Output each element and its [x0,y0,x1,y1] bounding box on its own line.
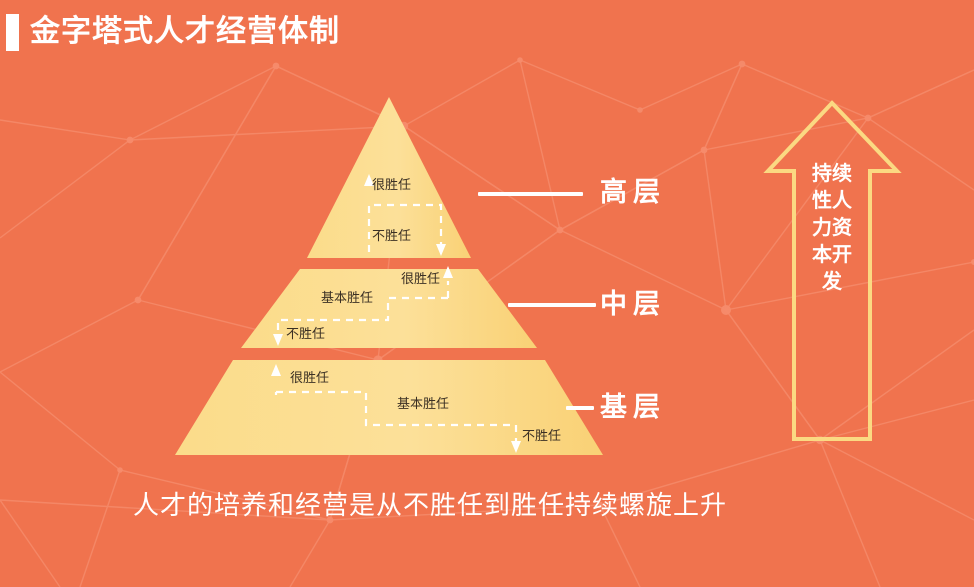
header-bar: 金字塔式人才经营体制 [0,0,974,66]
tier-connector-line-top [478,192,583,196]
competence-label-middle-2: 不胜任 [286,327,325,343]
tier-name-middle: 中层 [600,288,666,322]
competence-label-base-0: 很胜任 [290,371,329,387]
competence-label-middle-0: 很胜任 [401,272,440,288]
competence-label-base-2: 不胜任 [522,429,561,445]
tier-connector-line-base [566,406,594,410]
competence-label-top-0: 很胜任 [372,178,411,194]
tier-name-top: 高层 [600,176,666,210]
tier-name-base: 基层 [600,391,666,425]
dashed-path-base [276,392,516,443]
page-title: 金字塔式人才经营体制 [30,12,340,52]
competence-label-top-1: 不胜任 [372,229,411,245]
competence-label-base-1: 基本胜任 [397,397,449,413]
competence-label-middle-1: 基本胜任 [321,291,373,307]
tier-connector-line-middle [508,303,596,307]
arrow-label: 持续性人力资本开发 [812,160,852,295]
caption-text: 人才的培养和经营是从不胜任到胜任持续螺旋上升 [0,489,860,523]
title-accent-bar [6,14,19,51]
slide-canvas: 金字塔式人才经营体制 [0,0,974,587]
